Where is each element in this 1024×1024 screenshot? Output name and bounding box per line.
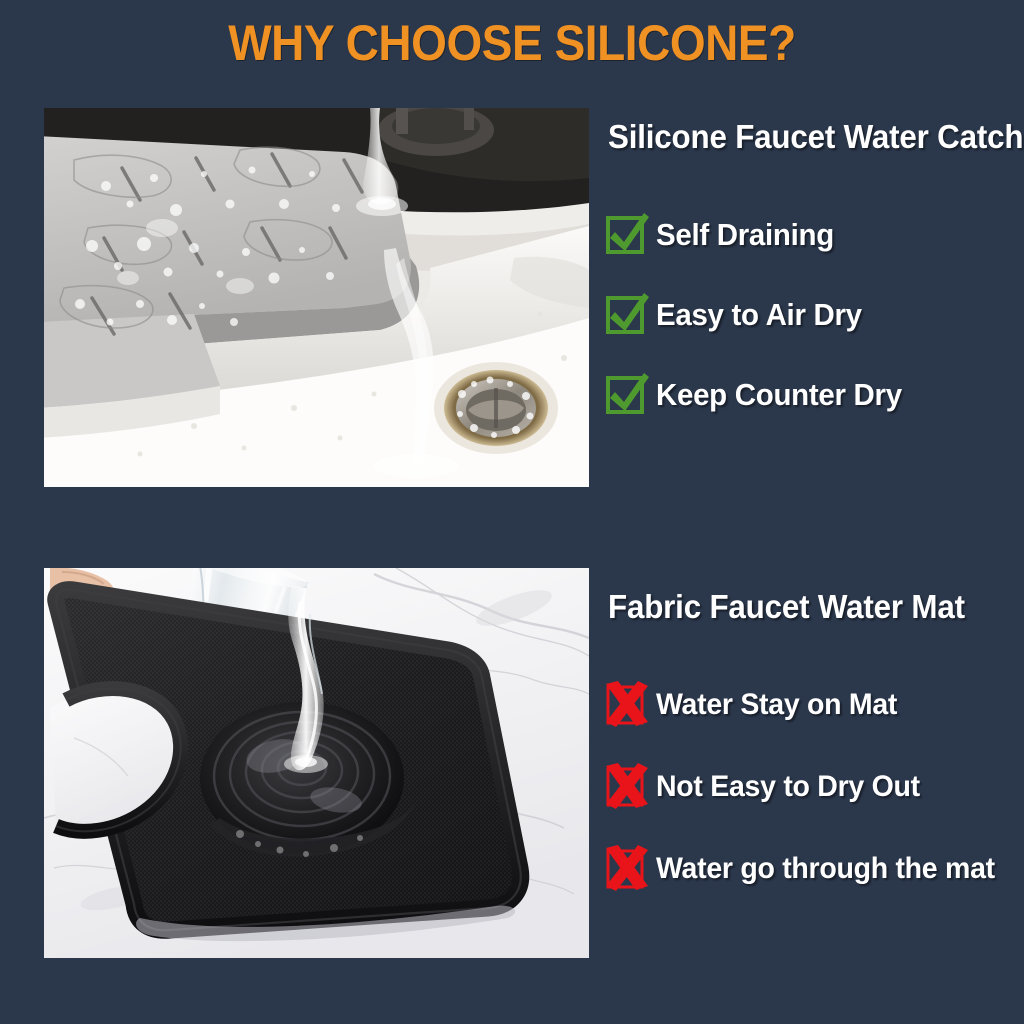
list-item: Keep Counter Dry (604, 364, 1024, 426)
checkbox-check-icon (604, 212, 650, 258)
checkbox-check-icon (604, 292, 650, 338)
list-item: Water go through the mat (604, 838, 1024, 900)
checkbox-cross-icon (604, 846, 650, 892)
section-heading-fabric: Fabric Faucet Water Mat (608, 588, 1003, 626)
section-heading-silicone: Silicone Faucet Water Catcher (608, 118, 1003, 156)
list-item: Water Stay on Mat (604, 674, 1024, 736)
photo-silicone-catcher (44, 108, 589, 487)
photo-fabric-mat (44, 568, 589, 958)
checkbox-cross-icon (604, 764, 650, 810)
list-item-label: Not Easy to Dry Out (656, 770, 920, 804)
section-silicone: Silicone Faucet Water Catcher Self Drain… (604, 118, 1024, 444)
checkbox-cross-icon (604, 682, 650, 728)
list-item: Not Easy to Dry Out (604, 756, 1024, 818)
list-item-label: Water Stay on Mat (656, 688, 897, 722)
checkbox-check-icon (604, 372, 650, 418)
list-item-label: Easy to Air Dry (656, 297, 862, 333)
drawback-list-fabric: Water Stay on Mat Not Easy to Dry Out (604, 674, 1024, 900)
infographic-page: WHY CHOOSE SILICONE? (0, 0, 1024, 1024)
page-title: WHY CHOOSE SILICONE? (41, 14, 983, 72)
benefit-list-silicone: Self Draining Easy to Air Dry (604, 204, 1024, 426)
section-fabric: Fabric Faucet Water Mat Water Stay on Ma… (604, 588, 1024, 920)
list-item: Self Draining (604, 204, 1024, 266)
list-item-label: Keep Counter Dry (656, 377, 902, 413)
list-item: Easy to Air Dry (604, 284, 1024, 346)
list-item-label: Water go through the mat (656, 852, 995, 886)
list-item-label: Self Draining (656, 217, 834, 253)
